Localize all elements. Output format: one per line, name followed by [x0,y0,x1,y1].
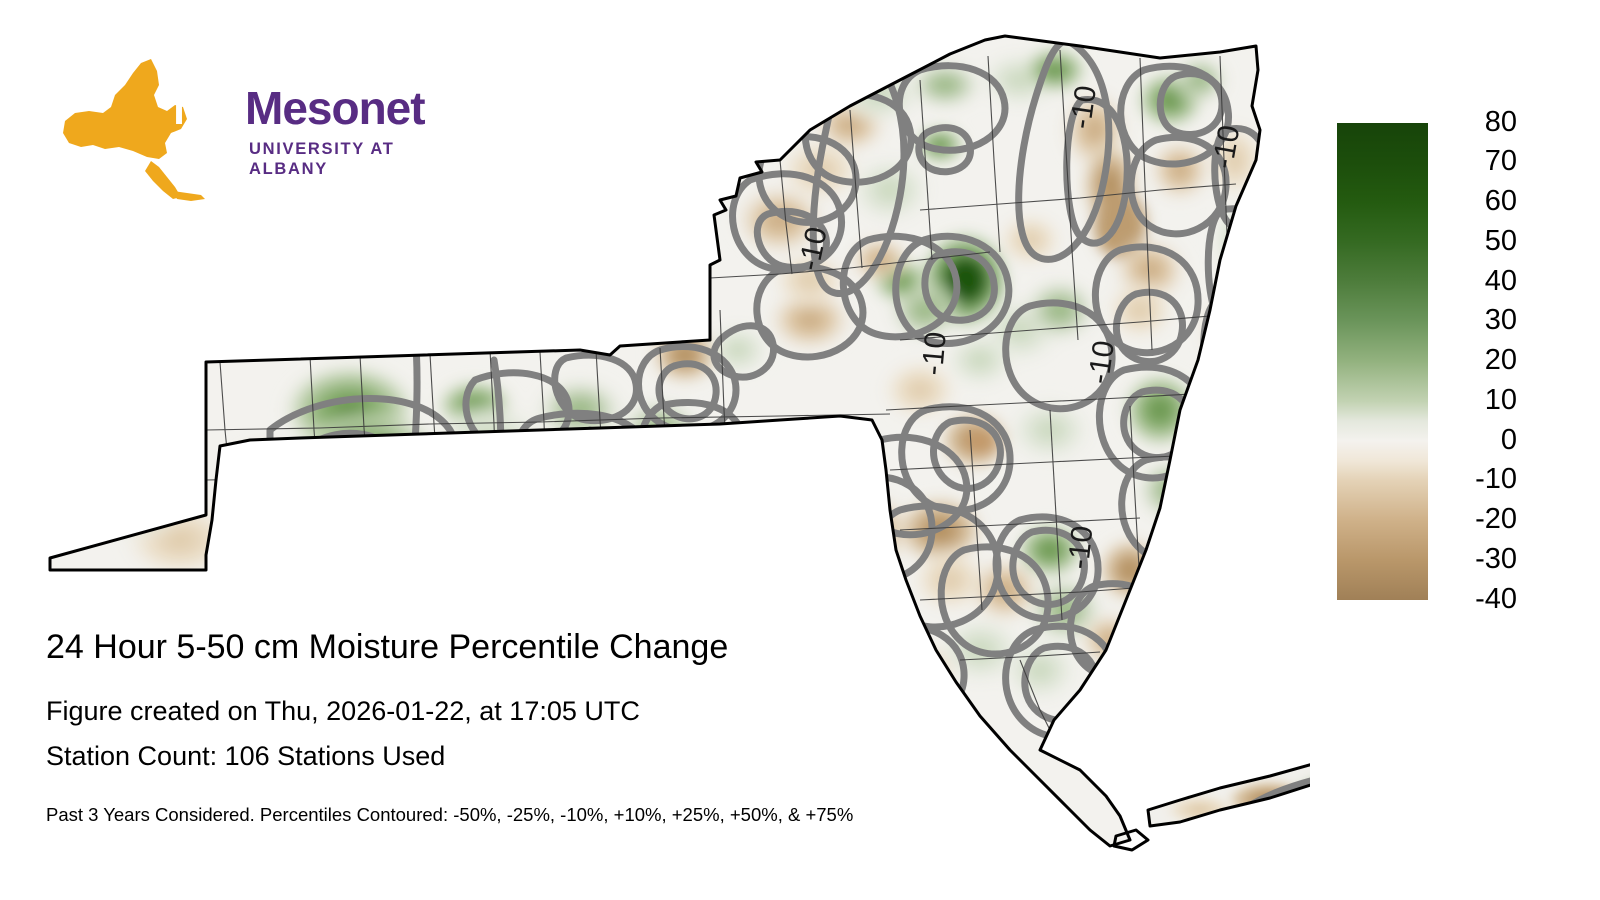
colorbar-tick-60: 60 [1455,187,1517,216]
colorbar-tick-minus40: -40 [1455,585,1517,614]
logo-university-text: UNIVERSITY AT ALBANY [249,139,403,179]
logo-mesonet-text: Mesonet [245,82,425,134]
svg-text:10: 10 [666,469,704,508]
svg-text:-10: -10 [627,507,672,558]
station-count-text: Station Count: 106 Stations Used [46,738,1166,774]
colorbar-tick-minus10: -10 [1455,465,1517,494]
colorbar-tick-10: 10 [1455,386,1517,415]
figure-title: 24 Hour 5-50 cm Moisture Percentile Chan… [46,625,1166,669]
figure-created-text: Figure created on Thu, 2026-01-22, at 17… [46,693,1166,729]
colorbar-tick-labels: 80706050403020100-10-20-30-40 [1455,110,1575,615]
svg-text:-10: -10 [1064,83,1103,131]
contour-levels-note: Past 3 Years Considered. Percentiles Con… [46,803,1166,827]
caption-block: 24 Hour 5-50 cm Moisture Percentile Chan… [46,625,1166,827]
colorbar-tick-20: 20 [1455,346,1517,375]
colorbar-tick-0: 0 [1455,426,1517,455]
svg-text:-10: -10 [1082,338,1121,386]
colorbar-gradient [1337,123,1428,600]
logo-wordmark: NYS Mesonet UNIVERSITY AT ALBANY [173,82,403,182]
colorbar-tick-minus30: -30 [1455,545,1517,574]
figure-root: -10 -10 -10 -10 -10 10 -10 -10 -10 [0,0,1600,900]
colorbar [1337,123,1428,600]
colorbar-tick-30: 30 [1455,306,1517,335]
colorbar-tick-80: 80 [1455,108,1517,137]
colorbar-tick-50: 50 [1455,227,1517,256]
colorbar-tick-minus20: -20 [1455,505,1517,534]
colorbar-tick-70: 70 [1455,147,1517,176]
nys-mesonet-logo: NYS Mesonet UNIVERSITY AT ALBANY [55,55,400,205]
colorbar-tick-40: 40 [1455,267,1517,296]
svg-text:-10: -10 [916,331,953,377]
svg-text:-10: -10 [1062,524,1099,571]
